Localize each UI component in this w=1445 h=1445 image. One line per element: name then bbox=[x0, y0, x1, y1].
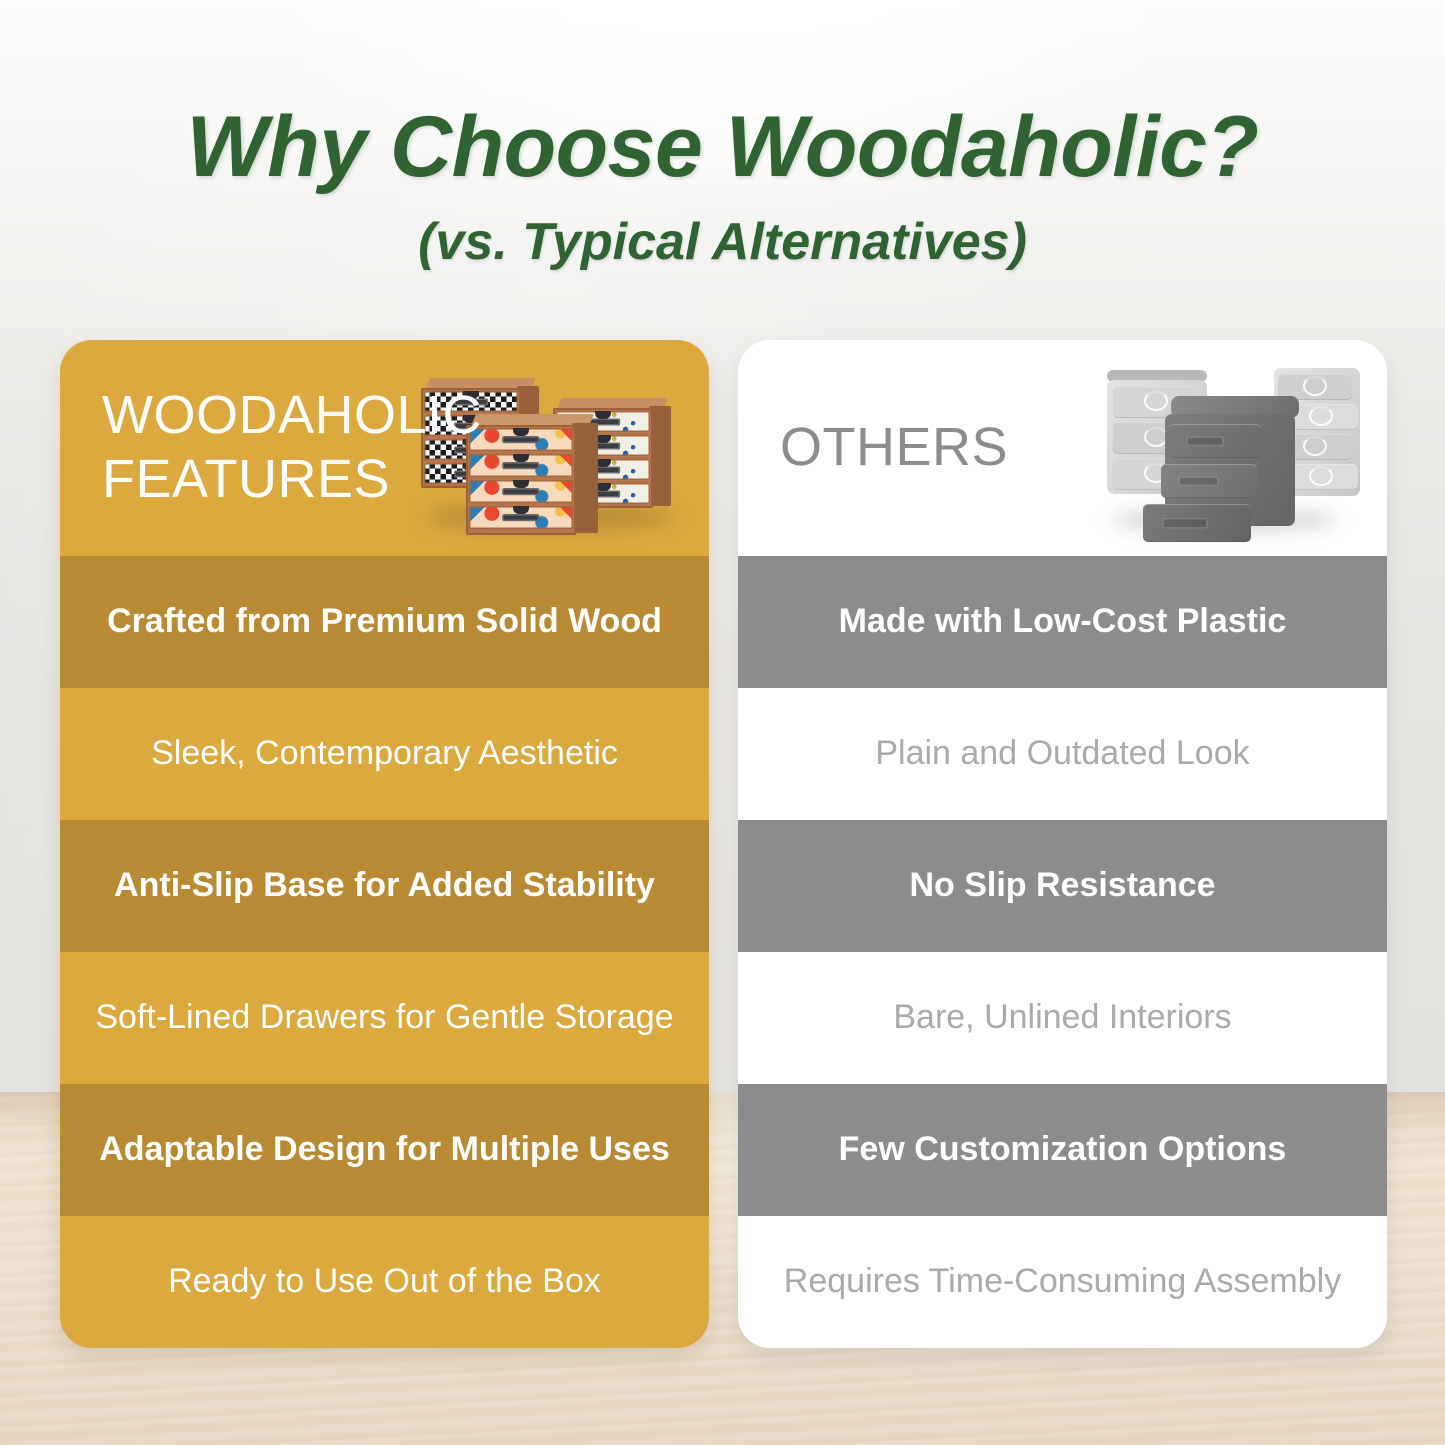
others-panel-header: OTHERS bbox=[738, 340, 1387, 556]
feature-text: Soft-Lined Drawers for Gentle Storage bbox=[95, 999, 673, 1036]
drawback-text: Bare, Unlined Interiors bbox=[893, 999, 1231, 1036]
table-row: Bare, Unlined Interiors bbox=[738, 952, 1387, 1084]
table-row: Sleek, Contemporary Aesthetic bbox=[60, 688, 709, 820]
woodaholic-heading: WOODAHOLIC FEATURES bbox=[60, 384, 432, 511]
table-row: Requires Time-Consuming Assembly bbox=[738, 1216, 1387, 1348]
table-row: No Slip Resistance bbox=[738, 820, 1387, 952]
comparison-table: WOODAHOLIC FEATURES bbox=[60, 340, 1387, 1348]
drawback-text: Plain and Outdated Look bbox=[875, 735, 1249, 772]
table-row: Plain and Outdated Look bbox=[738, 688, 1387, 820]
table-row: Ready to Use Out of the Box bbox=[60, 1216, 709, 1348]
feature-text: Ready to Use Out of the Box bbox=[168, 1263, 601, 1300]
title-block: Why Choose Woodaholic? (vs. Typical Alte… bbox=[0, 104, 1445, 268]
table-row: Soft-Lined Drawers for Gentle Storage bbox=[60, 952, 709, 1084]
others-heading: OTHERS bbox=[738, 416, 1008, 480]
woodaholic-panel-header: WOODAHOLIC FEATURES bbox=[60, 340, 709, 556]
page-subtitle: (vs. Typical Alternatives) bbox=[0, 216, 1445, 268]
others-panel: OTHERS bbox=[738, 340, 1387, 1348]
woodaholic-panel: WOODAHOLIC FEATURES bbox=[60, 340, 709, 1348]
drawback-text: No Slip Resistance bbox=[909, 867, 1215, 904]
woodaholic-heading-line2: FEATURES bbox=[102, 449, 390, 509]
page-title: Why Choose Woodaholic? bbox=[0, 104, 1445, 190]
table-row: Adaptable Design for Multiple Uses bbox=[60, 1084, 709, 1216]
drawback-text: Requires Time-Consuming Assembly bbox=[784, 1263, 1341, 1300]
table-row: Few Customization Options bbox=[738, 1084, 1387, 1216]
table-row: Anti-Slip Base for Added Stability bbox=[60, 820, 709, 952]
drawback-text: Few Customization Options bbox=[839, 1131, 1287, 1168]
woodaholic-heading-line1: WOODAHOLIC bbox=[102, 385, 482, 445]
gray-plastic-drawer-units-image bbox=[1079, 358, 1379, 548]
feature-text: Sleek, Contemporary Aesthetic bbox=[151, 735, 618, 772]
feature-text: Anti-Slip Base for Added Stability bbox=[114, 867, 655, 904]
feature-text: Adaptable Design for Multiple Uses bbox=[99, 1131, 670, 1168]
table-row: Made with Low-Cost Plastic bbox=[738, 556, 1387, 688]
feature-text: Crafted from Premium Solid Wood bbox=[107, 603, 662, 640]
drawback-text: Made with Low-Cost Plastic bbox=[839, 603, 1287, 640]
table-row: Crafted from Premium Solid Wood bbox=[60, 556, 709, 688]
